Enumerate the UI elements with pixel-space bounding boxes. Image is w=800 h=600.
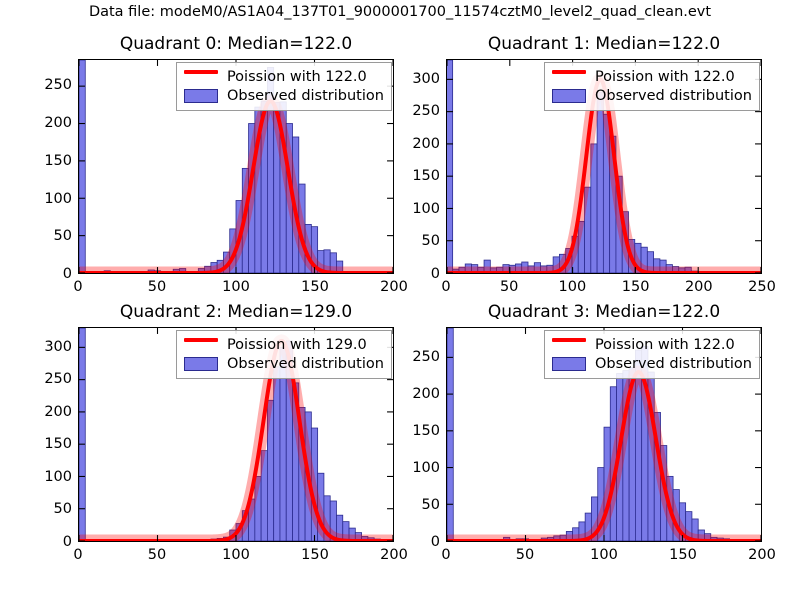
x-tick-label: 100 — [559, 279, 587, 295]
poisson-line-key — [184, 70, 218, 84]
x-tick-label: 0 — [73, 547, 82, 563]
legend-label-observed: Observed distribution — [227, 356, 384, 372]
y-tick-label: 250 — [44, 371, 72, 387]
x-tick-label: 100 — [590, 547, 618, 563]
legend-label-observed: Observed distribution — [595, 88, 752, 104]
x-tick-label: 100 — [222, 279, 250, 295]
x-tick-label: 100 — [222, 547, 250, 563]
observed-patch-key — [184, 357, 218, 371]
y-tick-label: 150 — [412, 423, 440, 439]
y-tick-label: 200 — [412, 386, 440, 402]
histogram-bar — [274, 367, 280, 541]
x-tick-label: 150 — [301, 279, 329, 295]
figure-canvas: Data file: modeM0/AS1A04_137T01_90000017… — [0, 0, 800, 600]
histogram-bar — [597, 92, 603, 273]
legend-label-poisson: Poission with 122.0 — [227, 69, 367, 85]
y-tick-label: 200 — [412, 136, 440, 152]
x-tick-label: 50 — [516, 547, 534, 563]
legend-label-poisson: Poission with 122.0 — [595, 69, 735, 85]
legend-quadrant-1[interactable]: Poission with 122.0Observed distribution — [544, 62, 760, 111]
legend-row-observed: Observed distribution — [184, 86, 384, 105]
y-tick-label: 50 — [54, 228, 72, 244]
legend-label-poisson: Poission with 129.0 — [227, 337, 367, 353]
y-tick-label: 150 — [412, 168, 440, 184]
y-tick-label: 250 — [412, 103, 440, 119]
observed-patch-key — [184, 89, 218, 103]
y-tick-label: 300 — [44, 339, 72, 355]
x-tick-label: 200 — [685, 279, 713, 295]
panel-quadrant-0: Quadrant 0: Median=122.0 050100150200250… — [78, 59, 394, 274]
x-tick-label: 200 — [380, 279, 408, 295]
x-tick-label: 250 — [748, 279, 776, 295]
x-tick-label: 50 — [148, 547, 166, 563]
y-tick-label: 200 — [44, 404, 72, 420]
y-tick-label: 0 — [63, 266, 72, 282]
y-tick-label: 50 — [422, 497, 440, 513]
panel-title-quadrant-3: Quadrant 3: Median=122.0 — [446, 302, 762, 322]
y-tick-label: 250 — [412, 349, 440, 365]
y-tick-label: 300 — [412, 71, 440, 87]
x-tick-label: 150 — [669, 547, 697, 563]
y-tick-label: 200 — [44, 115, 72, 131]
observed-patch-key — [552, 357, 586, 371]
observed-patch-key — [552, 89, 586, 103]
legend-row-observed: Observed distribution — [184, 354, 384, 373]
poisson-line-key — [552, 338, 586, 352]
legend-label-observed: Observed distribution — [595, 356, 752, 372]
poisson-line-key — [184, 338, 218, 352]
legend-row-poisson: Poission with 122.0 — [552, 67, 752, 86]
y-tick-label: 100 — [44, 469, 72, 485]
y-tick-label: 250 — [44, 77, 72, 93]
panel-quadrant-3: Quadrant 3: Median=122.0 050100150200250… — [446, 327, 762, 542]
y-tick-label: 150 — [44, 436, 72, 452]
y-tick-label: 0 — [431, 266, 440, 282]
legend-row-poisson: Poission with 122.0 — [552, 335, 752, 354]
x-tick-label: 150 — [622, 279, 650, 295]
legend-quadrant-0[interactable]: Poission with 122.0Observed distribution — [176, 62, 392, 111]
legend-label-poisson: Poission with 122.0 — [595, 337, 735, 353]
y-tick-label: 150 — [44, 153, 72, 169]
poisson-curve — [79, 101, 393, 273]
x-tick-label: 0 — [441, 547, 450, 563]
poisson-line-key — [552, 70, 586, 84]
panel-quadrant-2: Quadrant 2: Median=129.0 050100150200250… — [78, 327, 394, 542]
figure-suptitle: Data file: modeM0/AS1A04_137T01_90000017… — [0, 4, 800, 20]
panel-title-quadrant-1: Quadrant 1: Median=122.0 — [446, 34, 762, 54]
legend-label-observed: Observed distribution — [227, 88, 384, 104]
x-tick-label: 50 — [500, 279, 518, 295]
panel-quadrant-1: Quadrant 1: Median=122.0 050100150200250… — [446, 59, 762, 274]
legend-quadrant-2[interactable]: Poission with 129.0Observed distribution — [176, 330, 392, 379]
y-tick-label: 0 — [431, 534, 440, 550]
x-tick-label: 200 — [748, 547, 776, 563]
legend-row-observed: Observed distribution — [552, 86, 752, 105]
y-tick-label: 0 — [63, 534, 72, 550]
legend-row-poisson: Poission with 129.0 — [184, 335, 384, 354]
legend-quadrant-3[interactable]: Poission with 122.0Observed distribution — [544, 330, 760, 379]
y-tick-label: 100 — [412, 201, 440, 217]
histogram-bar — [447, 328, 453, 541]
x-tick-label: 0 — [73, 279, 82, 295]
y-tick-label: 50 — [422, 233, 440, 249]
panel-title-quadrant-2: Quadrant 2: Median=129.0 — [78, 302, 394, 322]
legend-row-poisson: Poission with 122.0 — [184, 67, 384, 86]
y-tick-label: 50 — [54, 501, 72, 517]
y-tick-label: 100 — [44, 191, 72, 207]
legend-row-observed: Observed distribution — [552, 354, 752, 373]
histogram-bar — [79, 60, 85, 273]
x-tick-label: 200 — [380, 547, 408, 563]
y-tick-label: 100 — [412, 460, 440, 476]
x-tick-label: 0 — [441, 279, 450, 295]
x-tick-label: 50 — [148, 279, 166, 295]
x-tick-label: 150 — [301, 547, 329, 563]
panel-title-quadrant-0: Quadrant 0: Median=122.0 — [78, 34, 394, 54]
